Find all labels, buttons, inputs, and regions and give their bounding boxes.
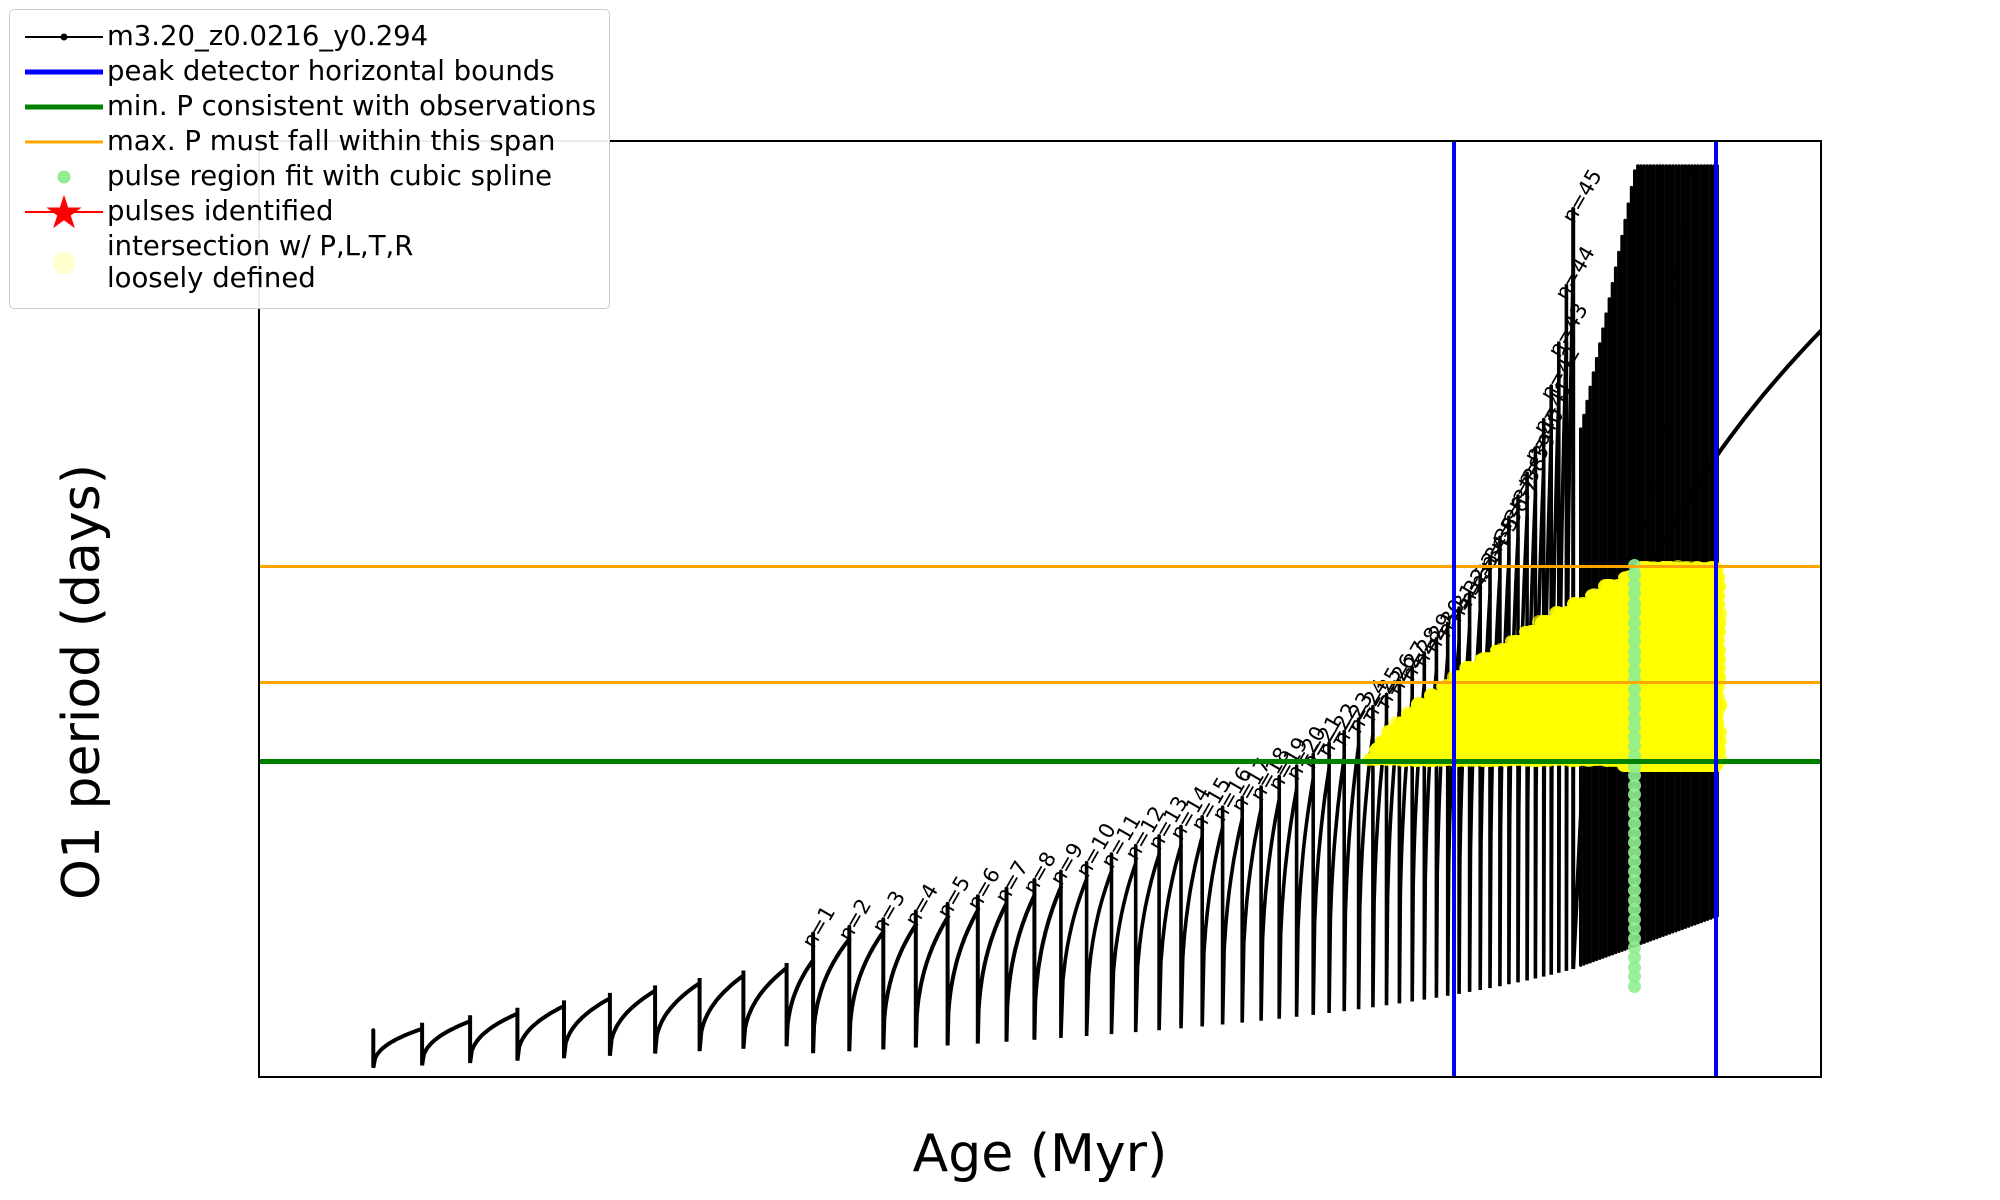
curve-segment bbox=[1181, 826, 1202, 1028]
curve-segment bbox=[1223, 807, 1243, 1024]
outlier-point bbox=[1668, 292, 1675, 299]
curve-segment bbox=[1279, 777, 1296, 1019]
curve-segment bbox=[978, 896, 1007, 1043]
curve-segment bbox=[813, 934, 849, 1054]
y-axis-title: O1 period (days) bbox=[52, 464, 112, 900]
curve-segment bbox=[883, 919, 916, 1049]
outlier-point bbox=[1648, 493, 1655, 500]
curve-segment bbox=[373, 960, 813, 1068]
curve-segment bbox=[1344, 732, 1358, 1012]
curve-segment bbox=[1329, 743, 1344, 1013]
curve-segment bbox=[1061, 871, 1087, 1038]
curve-segment bbox=[1297, 766, 1314, 1017]
outlier-point bbox=[1662, 426, 1669, 433]
curve-segment bbox=[1261, 787, 1279, 1021]
curve-segment bbox=[1202, 817, 1222, 1027]
curve-segment bbox=[1034, 880, 1061, 1040]
curve-segment bbox=[849, 927, 883, 1051]
curve-segment bbox=[1313, 755, 1329, 1015]
curve-segment bbox=[1112, 854, 1136, 1034]
curve-segment bbox=[1242, 798, 1261, 1023]
outlier-point bbox=[1671, 271, 1678, 278]
curve-segment bbox=[1136, 846, 1159, 1033]
curve-segment bbox=[1007, 889, 1035, 1042]
figure-canvas: O1 period (days) n=1n=2n=3n=4n=5n=6n=7n=… bbox=[0, 0, 2000, 1200]
curve-segment bbox=[948, 904, 978, 1046]
curve-segment bbox=[1087, 863, 1112, 1036]
curve-segment bbox=[1159, 836, 1181, 1030]
curve-segment bbox=[916, 912, 948, 1048]
